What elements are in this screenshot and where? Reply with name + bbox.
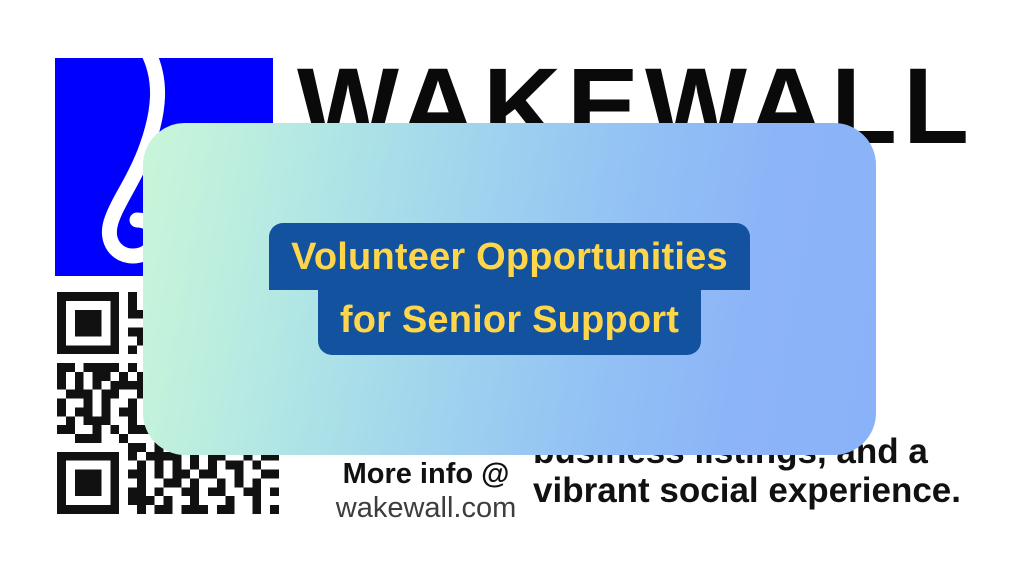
more-info-label: More info @	[318, 458, 534, 492]
gradient-overlay-card: Volunteer Opportunities for Senior Suppo…	[143, 123, 876, 455]
flyer-canvas: WAKEWALL w tes, business listings, and a…	[0, 0, 1024, 576]
headline-line-2: for Senior Support	[318, 288, 701, 355]
more-info-url[interactable]: wakewall.com	[318, 492, 534, 526]
headline-line-1: Volunteer Opportunities	[269, 223, 750, 290]
more-info-block: More info @ wakewall.com	[318, 458, 534, 525]
headline-badge: Volunteer Opportunities for Senior Suppo…	[143, 123, 876, 455]
body-copy-line-4: vibrant social experience.	[533, 473, 961, 508]
